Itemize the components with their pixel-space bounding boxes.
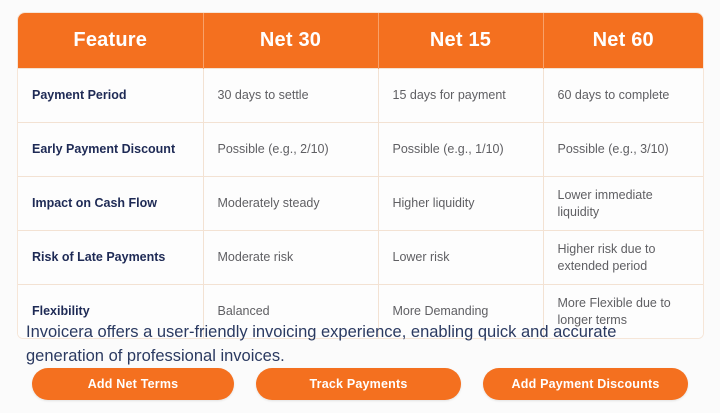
cell-net-15: Higher liquidity bbox=[378, 177, 543, 231]
table-row: Payment Period 30 days to settle 15 days… bbox=[18, 69, 703, 123]
table-header: Feature Net 30 Net 15 Net 60 bbox=[18, 13, 703, 69]
cell-net-60: 60 days to complete bbox=[543, 69, 703, 123]
cell-net-60: Lower immediate liquidity bbox=[543, 177, 703, 231]
column-header-feature: Feature bbox=[18, 13, 203, 69]
cta-button-row: Add Net Terms Track Payments Add Payment… bbox=[0, 368, 720, 400]
cell-net-60: Higher risk due to extended period bbox=[543, 231, 703, 285]
cell-net-15: 15 days for payment bbox=[378, 69, 543, 123]
cell-net-30: Moderately steady bbox=[203, 177, 378, 231]
table-row: Early Payment Discount Possible (e.g., 2… bbox=[18, 123, 703, 177]
add-net-terms-button[interactable]: Add Net Terms bbox=[32, 368, 234, 400]
add-payment-discounts-button[interactable]: Add Payment Discounts bbox=[483, 368, 688, 400]
cell-net-15: Possible (e.g., 1/10) bbox=[378, 123, 543, 177]
column-header-net-60: Net 60 bbox=[543, 13, 703, 69]
comparison-table-container: Feature Net 30 Net 15 Net 60 Payment Per… bbox=[18, 13, 703, 338]
row-feature-label: Payment Period bbox=[18, 69, 203, 123]
column-header-net-30: Net 30 bbox=[203, 13, 378, 69]
column-header-net-15: Net 15 bbox=[378, 13, 543, 69]
net-terms-comparison-table: Feature Net 30 Net 15 Net 60 Payment Per… bbox=[18, 13, 703, 338]
cell-net-60: Possible (e.g., 3/10) bbox=[543, 123, 703, 177]
payment-terms-comparison-page: Feature Net 30 Net 15 Net 60 Payment Per… bbox=[0, 0, 720, 413]
table-header-row: Feature Net 30 Net 15 Net 60 bbox=[18, 13, 703, 69]
table-row: Impact on Cash Flow Moderately steady Hi… bbox=[18, 177, 703, 231]
table-row: Risk of Late Payments Moderate risk Lowe… bbox=[18, 231, 703, 285]
cell-net-30: Moderate risk bbox=[203, 231, 378, 285]
table-body: Payment Period 30 days to settle 15 days… bbox=[18, 69, 703, 339]
promo-paragraph: Invoicera offers a user-friendly invoici… bbox=[26, 320, 694, 370]
row-feature-label: Impact on Cash Flow bbox=[18, 177, 203, 231]
cell-net-30: 30 days to settle bbox=[203, 69, 378, 123]
cell-net-30: Possible (e.g., 2/10) bbox=[203, 123, 378, 177]
row-feature-label: Risk of Late Payments bbox=[18, 231, 203, 285]
cell-net-15: Lower risk bbox=[378, 231, 543, 285]
track-payments-button[interactable]: Track Payments bbox=[256, 368, 461, 400]
row-feature-label: Early Payment Discount bbox=[18, 123, 203, 177]
